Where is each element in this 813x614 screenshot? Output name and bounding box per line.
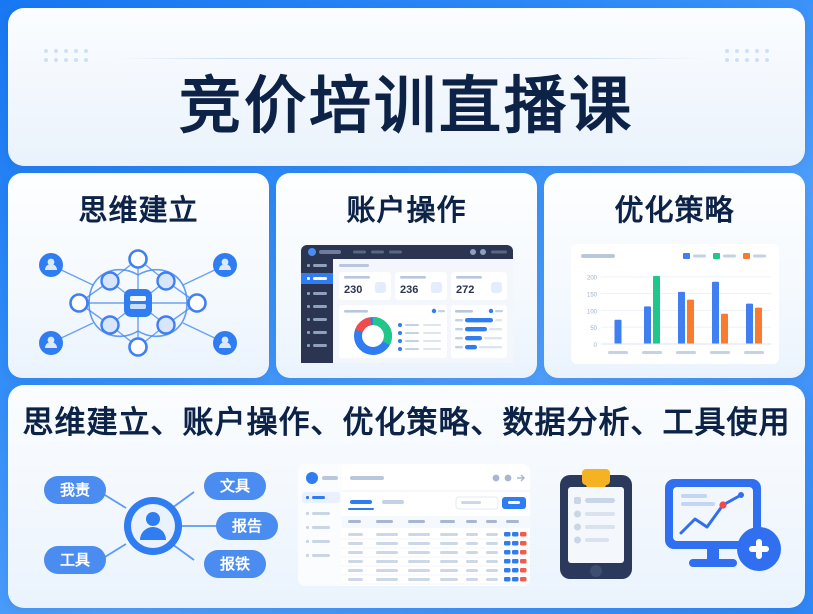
header-banner: 竞价培训直播课 [8,8,805,166]
summary-panel: 思维建立、账户操作、优化策略、数据分析、工具使用 [8,385,805,608]
clipboard-checklist-icon [537,467,655,583]
header-decoration-row [8,46,805,70]
bubble-label-2: 文具 [220,477,250,495]
poster-stage: 竞价培训直播课 思维建立 [0,0,813,614]
feature-card-account[interactable]: 账户操作 [276,173,537,378]
feature-card-mindset[interactable]: 思维建立 [8,173,269,378]
card-title: 账户操作 [346,187,466,229]
server-icon [124,289,152,317]
dashboard-mockup: 230 236 272 [276,229,537,378]
svg-text:236: 236 [400,284,418,296]
card-title: 思维建立 [78,187,198,229]
svg-text:50: 50 [590,326,597,332]
summary-title: 思维建立、账户操作、优化策略、数据分析、工具使用 [23,397,791,442]
network-mindmap-illustration [8,229,269,378]
summary-illustration-row: 我责 工具 文具 报告 报铁 [8,442,805,608]
table-mockup [296,464,531,586]
bubble-label-4: 报铁 [220,555,250,573]
dot-grid-icon [725,49,775,67]
feature-card-row: 思维建立 [8,173,805,378]
svg-text:230: 230 [344,284,362,296]
svg-text:150: 150 [586,292,597,298]
header-divider [116,58,703,59]
bubble-label-0: 我责 [60,481,90,499]
monitor-linechart-icon [661,467,791,583]
svg-text:200: 200 [586,275,597,281]
bubble-label-3: 报告 [232,517,262,535]
feature-card-strategy[interactable]: 优化策略 050100150200 [544,173,805,378]
bubble-label-1: 工具 [60,552,90,569]
bar-chart: 050100150200 [544,229,805,378]
card-title: 优化策略 [614,187,734,229]
mindmap-illustration: 我责 工具 文具 报告 报铁 [22,464,290,586]
dot-grid-icon [44,49,94,67]
svg-text:272: 272 [456,284,474,296]
svg-text:100: 100 [586,309,597,315]
